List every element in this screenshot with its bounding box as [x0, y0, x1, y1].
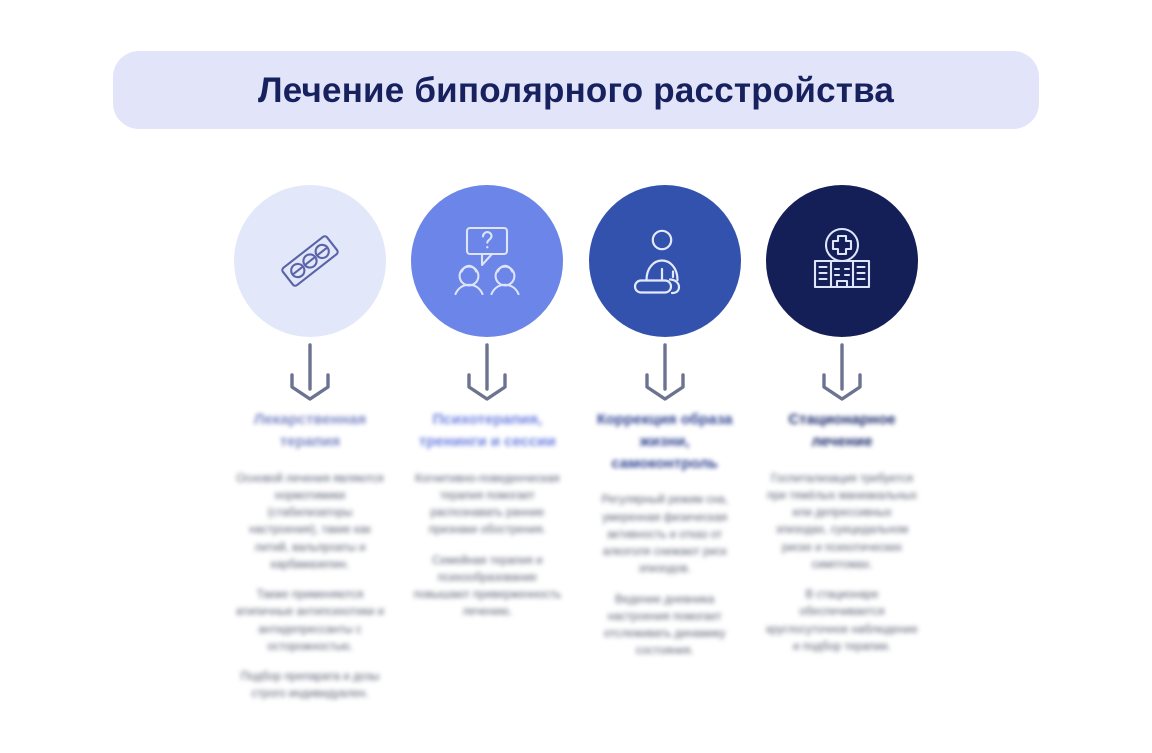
body-lifestyle: Регулярный режим сна, умеренная физическ…: [589, 492, 741, 660]
heading-lifestyle: Коррекция образа жизни, самоконтроль: [585, 409, 745, 474]
paragraph: Семейная терапия и психообразование повы…: [411, 553, 563, 622]
paragraph: Госпитализация требуется при тяжёлых ман…: [766, 471, 918, 575]
counselling-speech-bubble-icon: [447, 222, 527, 300]
heading-medication: Лекарственная терапия: [230, 409, 390, 453]
column-inpatient: Стационарное лечение Госпитализация треб…: [760, 185, 924, 725]
column-psychotherapy: Психотерапия, тренинги и сессии Когнитив…: [405, 185, 569, 725]
body-inpatient: Госпитализация требуется при тяжёлых ман…: [766, 471, 918, 657]
paragraph: Подбор препарата и дозы строго индивидуа…: [234, 669, 386, 704]
circle-medication[interactable]: [234, 185, 386, 337]
page-title: Лечение биполярного расстройства: [258, 73, 894, 108]
heading-inpatient: Стационарное лечение: [762, 409, 922, 453]
paragraph: В стационаре обеспечивается круглосуточн…: [766, 587, 918, 656]
body-medication: Основой лечения являются нормотимики (ст…: [234, 471, 386, 704]
paragraph: Также применяются атипичные антипсихотик…: [234, 587, 386, 656]
paragraph: Регулярный режим сна, умеренная физическ…: [589, 492, 741, 578]
circle-psychotherapy[interactable]: [411, 185, 563, 337]
column-medication: Лекарственная терапия Основой лечения яв…: [228, 185, 392, 725]
heading-psychotherapy: Психотерапия, тренинги и сессии: [407, 409, 567, 453]
arrow-connector-2: [405, 337, 569, 409]
column-lifestyle: Коррекция образа жизни, самоконтроль Рег…: [583, 185, 747, 725]
pill-blister-pack-icon: [271, 222, 349, 300]
circle-lifestyle[interactable]: [589, 185, 741, 337]
circle-inpatient[interactable]: [766, 185, 918, 337]
body-psychotherapy: Когнитивно-поведенческая терапия помогае…: [411, 471, 563, 622]
hospital-building-icon: [804, 223, 880, 299]
arrow-connector-4: [760, 337, 924, 409]
treatment-columns: Лекарственная терапия Основой лечения яв…: [228, 185, 924, 725]
paragraph: Когнитивно-поведенческая терапия помогае…: [411, 471, 563, 540]
arrow-connector-3: [583, 337, 747, 409]
arrow-connector-1: [228, 337, 392, 409]
paragraph: Основой лечения являются нормотимики (ст…: [234, 471, 386, 575]
title-banner: Лечение биполярного расстройства: [113, 51, 1039, 129]
infographic-canvas: Лечение биполярного расстройства: [0, 0, 1152, 753]
paragraph: Ведение дневника настроения помогает отс…: [589, 592, 741, 661]
meditating-person-icon: [629, 225, 701, 297]
